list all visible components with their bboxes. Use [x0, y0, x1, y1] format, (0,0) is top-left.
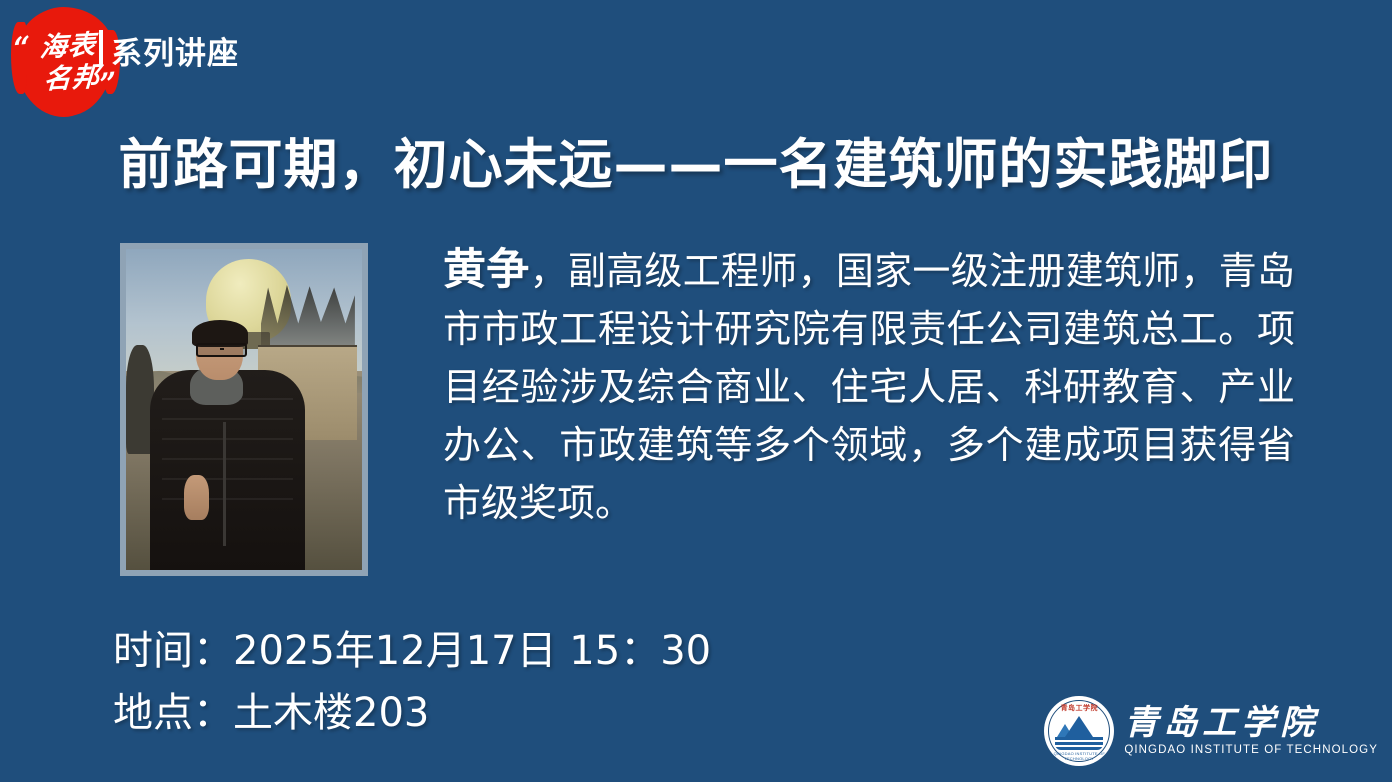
emblem-mountain-wave-icon	[1055, 716, 1103, 750]
thumbs-up-icon	[184, 475, 209, 520]
speaker-name: 黄争	[443, 245, 530, 295]
speaker-bio: 黄争，副高级工程师，国家一级注册建筑师，青岛市市政工程设计研究院有限责任公司建筑…	[443, 241, 1295, 532]
emblem-waves	[1055, 737, 1103, 750]
university-name-cn: 青岛工学院	[1124, 706, 1378, 742]
university-logo: 青岛工学院 QINGDAO INSTITUTE OF TECHNOLOGY 青岛…	[1044, 694, 1378, 768]
glasses-icon	[196, 343, 247, 357]
speaker-figure	[150, 320, 306, 570]
event-place-value: 土木楼203	[233, 690, 429, 736]
seal-quote-open-icon: “	[12, 33, 33, 65]
series-label: 系列讲座	[111, 28, 239, 73]
event-time-label: 时间：	[113, 628, 233, 674]
page-title: 前路可期，初心未远——一名建筑师的实践脚印	[0, 120, 1392, 199]
seal-line-2: 名邦	[43, 63, 101, 93]
brand-divider	[99, 30, 103, 64]
speaker-photo	[120, 243, 368, 576]
university-emblem-icon: 青岛工学院 QINGDAO INSTITUTE OF TECHNOLOGY	[1044, 696, 1114, 766]
event-place-row: 地点：土木楼203	[113, 682, 711, 744]
speaker-bio-text: ，副高级工程师，国家一级注册建筑师，青岛市市政工程设计研究院有限责任公司建筑总工…	[443, 249, 1295, 525]
event-details: 时间：2025年12月17日 15：30 地点：土木楼203	[113, 620, 711, 744]
seal-quote-close-icon: ”	[98, 69, 119, 101]
brand-strip: “ 海表 名邦 ” 系列讲座	[0, 0, 320, 120]
emblem-main-peak	[1065, 716, 1093, 737]
event-place-label: 地点：	[113, 690, 233, 736]
seal-line-1: 海表	[39, 31, 97, 61]
emblem-top-text: 青岛工学院	[1044, 703, 1114, 713]
university-name-en: QINGDAO INSTITUTE OF TECHNOLOGY	[1124, 744, 1378, 756]
speaker-photo-image	[126, 249, 362, 570]
university-name-block: 青岛工学院 QINGDAO INSTITUTE OF TECHNOLOGY	[1124, 706, 1378, 757]
lecture-poster: “ 海表 名邦 ” 系列讲座 前路可期，初心未远——一名建筑师的实践脚印	[0, 0, 1392, 782]
event-time-row: 时间：2025年12月17日 15：30	[113, 620, 711, 682]
jacket-zipper	[223, 422, 226, 546]
emblem-bottom-text: QINGDAO INSTITUTE OF TECHNOLOGY	[1044, 751, 1114, 761]
event-time-value: 2025年12月17日 15：30	[233, 628, 711, 674]
